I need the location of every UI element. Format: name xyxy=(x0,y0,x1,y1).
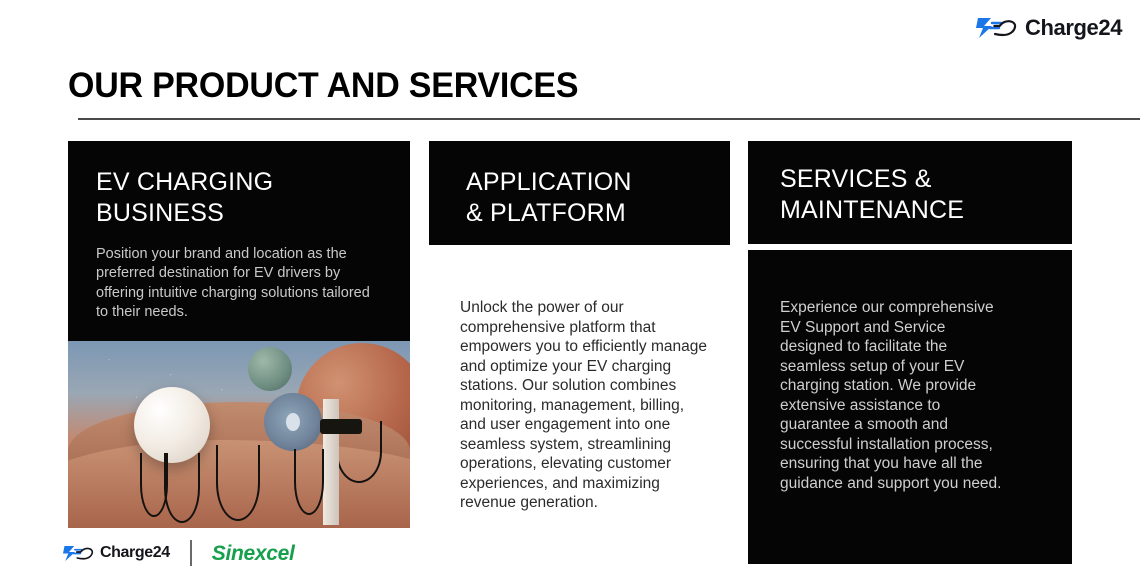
brand-wordmark: Charge24 xyxy=(1025,17,1122,39)
card2-title: APPLICATION & PLATFORM xyxy=(466,167,716,228)
sinexcel-logo: Sinexcel xyxy=(212,543,295,564)
brand-logo-header: Charge24 xyxy=(975,14,1122,42)
slide-root: Charge24 OUR PRODUCT AND SERVICES EV CHA… xyxy=(0,0,1140,581)
planet-small-icon xyxy=(248,347,292,391)
sphere-charger-icon xyxy=(134,387,210,463)
footer-charge24-logo: Charge24 xyxy=(62,543,170,564)
cable-4 xyxy=(294,449,324,515)
footer-divider xyxy=(190,540,192,566)
card-application-platform[interactable]: APPLICATION & PLATFORM Unlock the power … xyxy=(429,141,730,531)
card3-body-text: Experience our comprehensive EV Support … xyxy=(780,298,1008,493)
card1-illustration xyxy=(68,341,410,528)
cable-2 xyxy=(164,453,200,523)
charger-post xyxy=(323,399,339,525)
disc-charger-core xyxy=(286,413,300,431)
card3-title: SERVICES & MAINTENANCE xyxy=(780,164,1060,225)
card-services-maintenance[interactable]: SERVICES & MAINTENANCE Experience our co… xyxy=(748,141,1072,564)
charge24-bolt-car-icon xyxy=(62,543,94,564)
card1-body-text: Position your brand and location as the … xyxy=(96,245,370,322)
cable-3 xyxy=(216,445,260,521)
card-ev-charging-business[interactable]: EV CHARGING BUSINESS Position your brand… xyxy=(68,141,410,528)
title-divider xyxy=(78,118,1140,120)
footer-brand-bar: Charge24 Sinexcel xyxy=(62,540,295,566)
card1-title: EV CHARGING BUSINESS xyxy=(96,167,386,228)
card2-body-text: Unlock the power of our comprehensive pl… xyxy=(460,298,708,513)
charging-plug-icon xyxy=(320,419,362,434)
charge24-bolt-car-icon xyxy=(975,14,1017,42)
footer-brand-wordmark: Charge24 xyxy=(100,545,170,561)
page-title: OUR PRODUCT AND SERVICES xyxy=(68,66,578,106)
